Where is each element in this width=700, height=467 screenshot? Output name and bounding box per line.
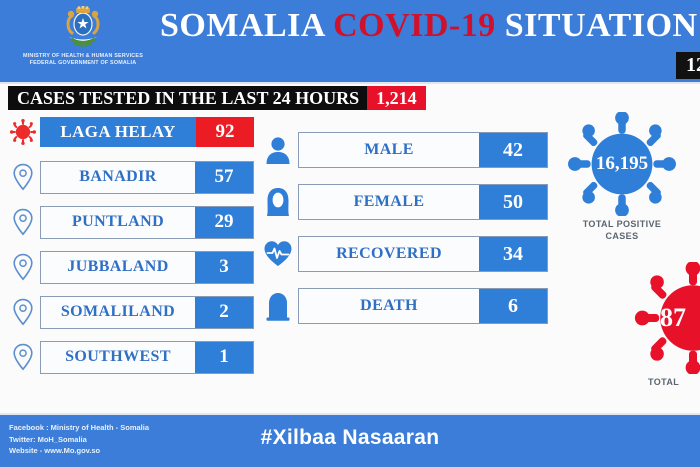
location-pin-icon: [6, 203, 40, 241]
poster-footer: Facebook : Ministry of Health - Somalia …: [0, 415, 700, 467]
header-divider: [0, 82, 700, 84]
total-secondary-value: 87: [634, 303, 700, 333]
cases-tested-label: CASES TESTED IN THE LAST 24 HOURS: [8, 86, 367, 110]
location-pin-icon: [6, 248, 40, 286]
total-positive-caption: TOTAL POSITIVE CASES: [566, 218, 678, 242]
stat-row-male: MALE 42: [258, 130, 548, 170]
stat-value: 6: [479, 289, 547, 323]
location-pin-icon: [6, 158, 40, 196]
cases-tested-banner: CASES TESTED IN THE LAST 24 HOURS 1,214: [8, 86, 426, 110]
demographics-list: MALE 42 FEMALE 50: [258, 130, 548, 326]
total-positive-cases-block: 16,195 TOTAL POSITIVE CASES: [566, 112, 678, 242]
stat-label: DEATH: [299, 289, 479, 323]
region-label: SOUTHWEST: [41, 342, 195, 373]
female-person-icon: [258, 182, 298, 222]
region-value: 29: [195, 207, 253, 238]
title-covid: COVID-19: [333, 7, 496, 44]
title-situation: SITUATION UPDATE: [505, 7, 700, 44]
ministry-name: MINISTRY OF HEALTH & HUMAN SERVICES: [8, 53, 158, 59]
stat-row-death: DEATH 6: [258, 286, 548, 326]
stat-label: MALE: [299, 133, 479, 167]
cases-tested-value: 1,214: [367, 86, 426, 110]
region-label: JUBBALAND: [41, 252, 195, 283]
region-row-banadir: BANADIR 57: [6, 158, 254, 196]
regions-list: LAGA HELAY 92 BANADIR 57: [6, 113, 254, 376]
date-badge: 12: [676, 52, 700, 79]
stat-label: RECOVERED: [299, 237, 479, 271]
region-label: PUNTLAND: [41, 207, 195, 238]
total-positive-value: 16,195: [568, 153, 676, 175]
region-bar: LAGA HELAY 92: [40, 117, 254, 147]
region-label: LAGA HELAY: [40, 117, 196, 147]
region-value: 3: [195, 252, 253, 283]
stat-value: 34: [479, 237, 547, 271]
region-row-southwest: SOUTHWEST 1: [6, 338, 254, 376]
stat-bar: FEMALE 50: [298, 184, 548, 220]
region-row-laga-helay: LAGA HELAY 92: [6, 113, 254, 151]
campaign-hashtag: #Xilbaa Nasaaran: [0, 426, 700, 450]
page-title: SOMALIA COVID-19 SITUATION UPDATE: [160, 6, 700, 46]
stat-value: 42: [479, 133, 547, 167]
region-label: SOMALILAND: [41, 297, 195, 328]
virus-icon: [6, 113, 40, 151]
region-bar: SOUTHWEST 1: [40, 341, 254, 374]
region-row-puntland: PUNTLAND 29: [6, 203, 254, 241]
total-secondary-caption: TOTAL: [634, 376, 700, 388]
region-bar: PUNTLAND 29: [40, 206, 254, 239]
ministry-branding: MINISTRY OF HEALTH & HUMAN SERVICES FEDE…: [8, 6, 158, 76]
title-country: SOMALIA: [160, 7, 324, 44]
region-bar: JUBBALAND 3: [40, 251, 254, 284]
region-row-jubbaland: JUBBALAND 3: [6, 248, 254, 286]
region-bar: SOMALILAND 2: [40, 296, 254, 329]
region-value: 2: [195, 297, 253, 328]
tombstone-icon: [258, 286, 298, 326]
region-value: 57: [195, 162, 253, 193]
stat-row-female: FEMALE 50: [258, 182, 548, 222]
region-value: 92: [196, 117, 254, 147]
region-label: BANADIR: [41, 162, 195, 193]
stat-row-recovered: RECOVERED 34: [258, 234, 548, 274]
region-value: 1: [195, 342, 253, 373]
region-bar: BANADIR 57: [40, 161, 254, 194]
location-pin-icon: [6, 338, 40, 376]
region-row-somaliland: SOMALILAND 2: [6, 293, 254, 331]
stat-bar: RECOVERED 34: [298, 236, 548, 272]
somalia-coat-of-arms-icon: [60, 6, 106, 50]
covid-situation-poster: MINISTRY OF HEALTH & HUMAN SERVICES FEDE…: [0, 0, 700, 467]
stat-value: 50: [479, 185, 547, 219]
government-name: FEDERAL GOVERNMENT OF SOMALIA: [8, 60, 158, 66]
location-pin-icon: [6, 293, 40, 331]
heart-pulse-icon: [258, 234, 298, 274]
male-person-icon: [258, 130, 298, 170]
total-secondary-block: 87 TOTAL: [634, 262, 700, 388]
stat-label: FEMALE: [299, 185, 479, 219]
stat-bar: DEATH 6: [298, 288, 548, 324]
poster-header: MINISTRY OF HEALTH & HUMAN SERVICES FEDE…: [0, 0, 700, 82]
stat-bar: MALE 42: [298, 132, 548, 168]
